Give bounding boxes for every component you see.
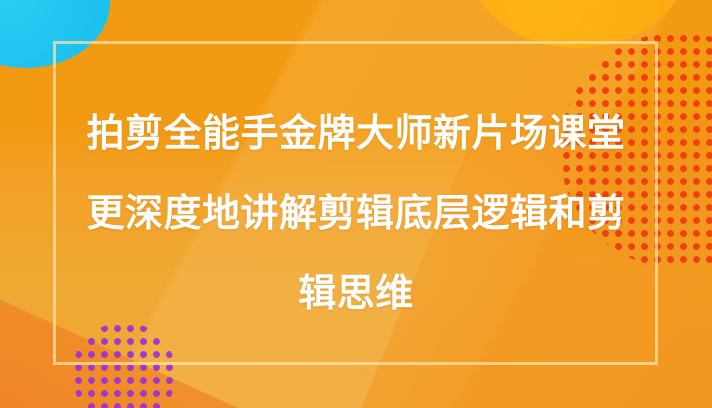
poster-title: 拍剪全能手金牌大师新片场课堂 更深度地讲解剪辑底层逻辑和剪 辑思维 [0, 94, 712, 334]
title-line-2: 更深度地讲解剪辑底层逻辑和剪 [60, 174, 652, 254]
title-line-1: 拍剪全能手金牌大师新片场课堂 [60, 94, 652, 174]
title-line-3: 辑思维 [60, 254, 652, 334]
course-poster: 拍剪全能手金牌大师新片场课堂 更深度地讲解剪辑底层逻辑和剪 辑思维 [0, 0, 712, 408]
